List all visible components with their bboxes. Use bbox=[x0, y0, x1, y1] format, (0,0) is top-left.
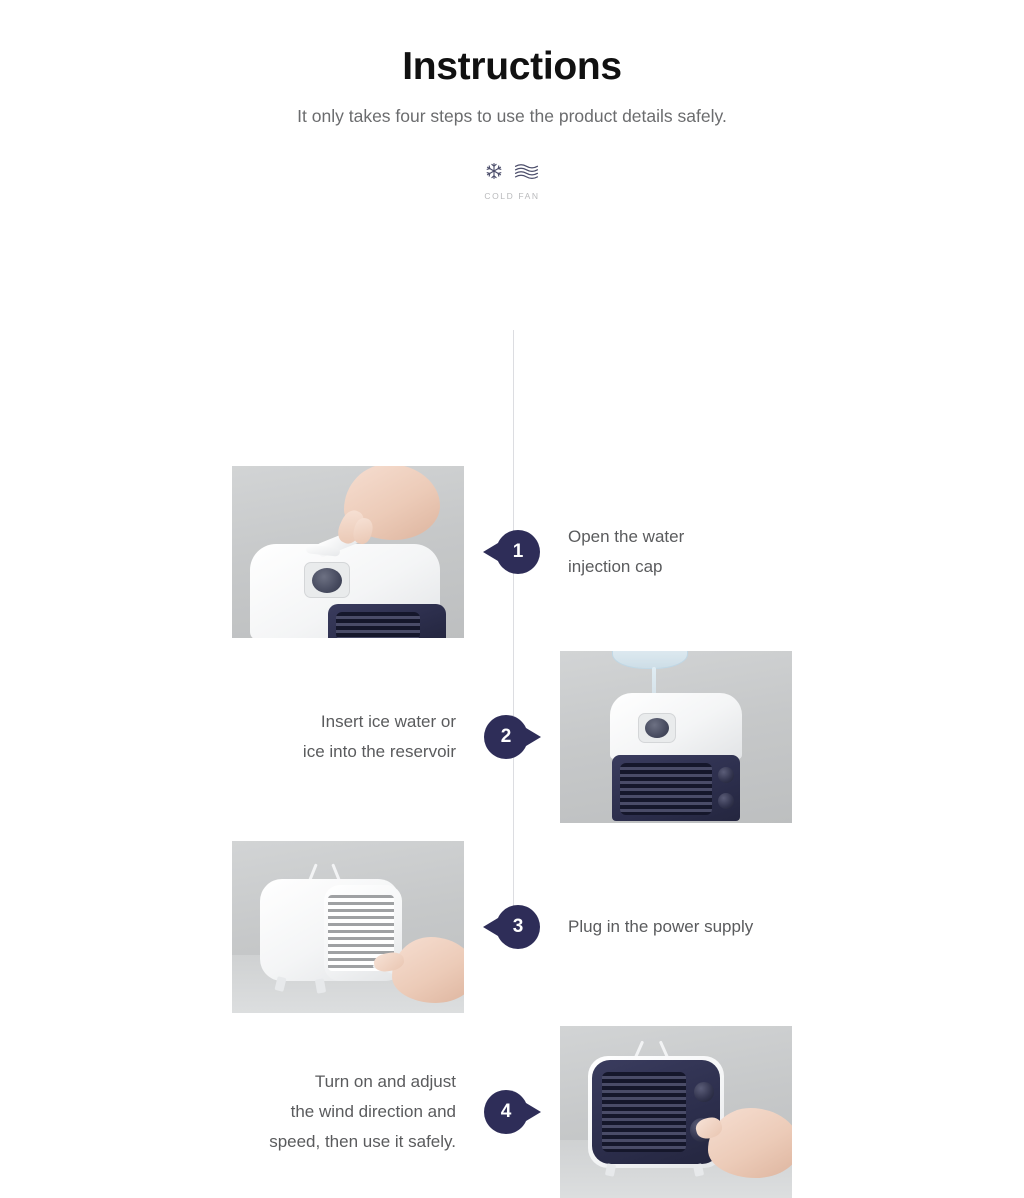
brandmark-label: COLD FAN bbox=[0, 191, 1024, 201]
step-item-1: 1 Open the water injection cap bbox=[232, 466, 684, 638]
step-2-photo bbox=[560, 651, 792, 823]
step-item-3: 3 Plug in the power supply bbox=[232, 841, 753, 1013]
step-4-number: 4 bbox=[501, 1102, 512, 1121]
hand bbox=[708, 1108, 792, 1178]
page-header: Instructions It only takes four steps to… bbox=[0, 0, 1024, 130]
step-item-4: Turn on and adjust the wind direction an… bbox=[0, 1026, 792, 1198]
step-2-text: Insert ice water or ice into the reservo… bbox=[303, 707, 456, 768]
step-2-badge: 2 bbox=[484, 715, 528, 759]
page-title: Instructions bbox=[0, 46, 1024, 89]
step-3-badge: 3 bbox=[496, 905, 540, 949]
step-3-photo bbox=[232, 841, 464, 1013]
snowflake-icon bbox=[485, 162, 503, 180]
step-3-number: 3 bbox=[513, 917, 524, 936]
hand bbox=[392, 937, 464, 1003]
step-1-number: 1 bbox=[513, 542, 524, 561]
brandmark: COLD FAN bbox=[0, 160, 1024, 201]
step-4-text: Turn on and adjust the wind direction an… bbox=[269, 1067, 456, 1158]
page-subtitle: It only takes four steps to use the prod… bbox=[0, 102, 1024, 130]
step-3-text: Plug in the power supply bbox=[568, 912, 753, 942]
air-waves-icon bbox=[514, 162, 539, 180]
step-item-2: Insert ice water or ice into the reservo… bbox=[0, 651, 792, 823]
step-1-text: Open the water injection cap bbox=[568, 522, 684, 583]
step-1-photo bbox=[232, 466, 464, 638]
brandmark-icons bbox=[0, 160, 1024, 182]
step-4-photo bbox=[560, 1026, 792, 1198]
step-4-badge: 4 bbox=[484, 1090, 528, 1134]
step-2-number: 2 bbox=[501, 727, 512, 746]
step-1-badge: 1 bbox=[496, 530, 540, 574]
